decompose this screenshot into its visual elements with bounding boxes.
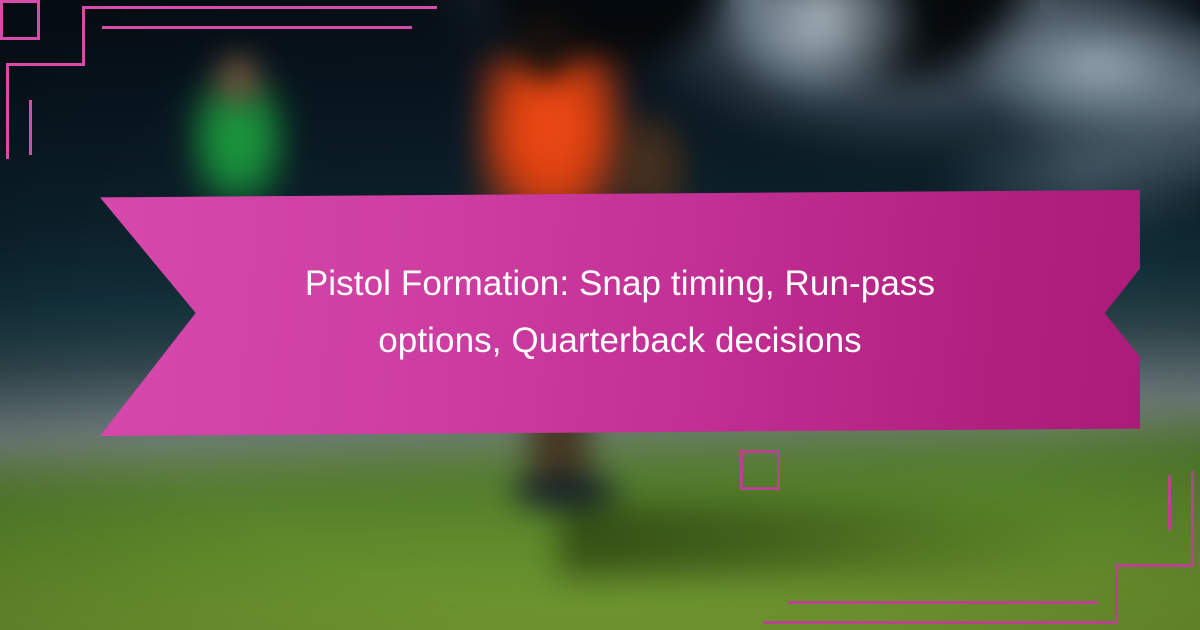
headline-line-2: options, Quarterback decisions xyxy=(378,321,862,360)
headline-banner: Pistol Formation: Snap timing, Run-pass … xyxy=(100,190,1140,436)
share-card-canvas: Pistol Formation: Snap timing, Run-pass … xyxy=(0,0,1200,630)
headline-line-1: Pistol Formation: Snap timing, Run-pass xyxy=(305,264,935,303)
headline-text: Pistol Formation: Snap timing, Run-pass … xyxy=(270,256,970,369)
